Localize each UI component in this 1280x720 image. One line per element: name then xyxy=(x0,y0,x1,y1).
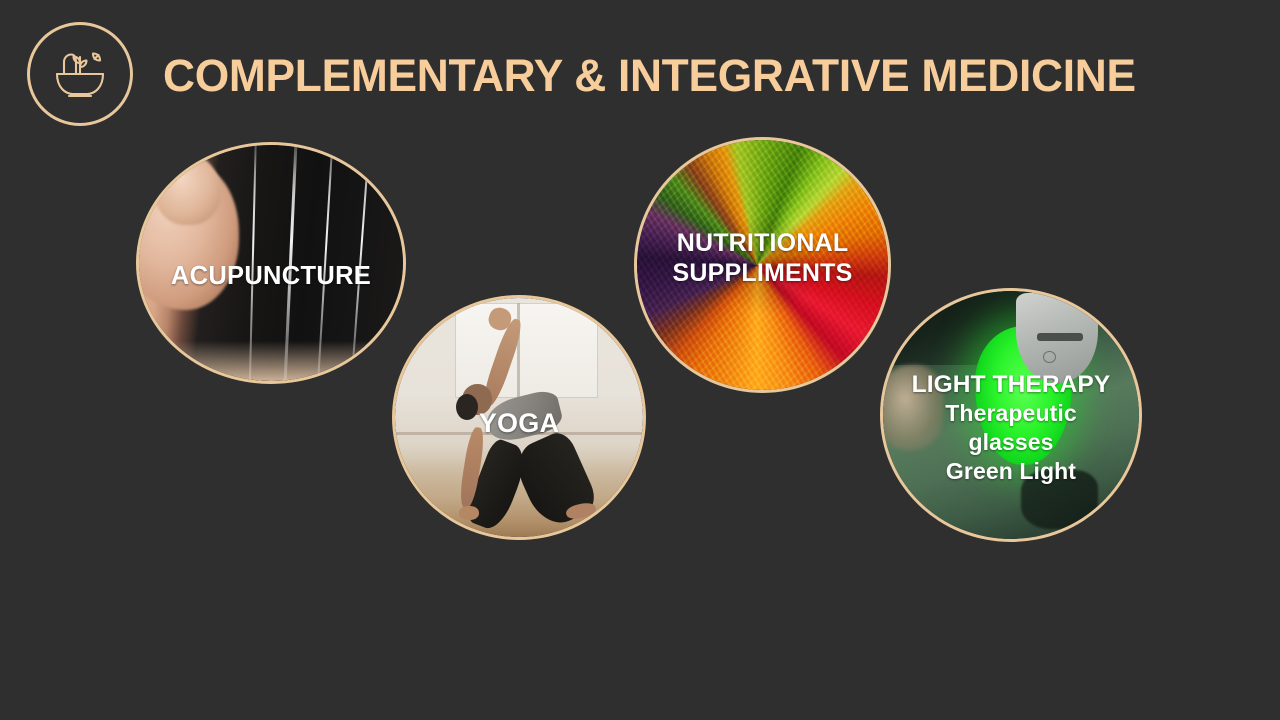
page-title: COMPLEMENTARY & INTEGRATIVE MEDICINE xyxy=(163,48,1136,104)
caption-line-1: LIGHT THERAPY xyxy=(883,370,1139,399)
caption-line-2: Therapeutic xyxy=(883,399,1139,428)
device-slot xyxy=(1037,333,1083,341)
caption-yoga: YOGA xyxy=(395,408,643,439)
caption-line-1: NUTRITIONAL xyxy=(637,228,888,258)
thumb-shape xyxy=(155,154,221,225)
topic-circle-light-therapy[interactable]: LIGHT THERAPY Therapeutic glasses Green … xyxy=(880,288,1142,542)
slide-canvas: COMPLEMENTARY & INTEGRATIVE MEDICINE ACU… xyxy=(0,0,1280,720)
caption-line-4: Green Light xyxy=(883,457,1139,486)
caption-line-2: SUPPLIMENTS xyxy=(637,258,888,288)
topic-circle-yoga[interactable]: YOGA xyxy=(392,295,646,540)
topic-circle-nutritional-suppliments[interactable]: NUTRITIONAL SUPPLIMENTS xyxy=(634,137,891,393)
yoga-figure-hand-lowered xyxy=(459,506,479,520)
logo-badge xyxy=(27,22,133,126)
caption-acupuncture: ACUPUNCTURE xyxy=(139,262,403,291)
slide-header: COMPLEMENTARY & INTEGRATIVE MEDICINE xyxy=(0,0,1280,140)
caption-line-3: glasses xyxy=(883,428,1139,457)
topic-circle-acupuncture[interactable]: ACUPUNCTURE xyxy=(136,142,406,384)
device-button-icon xyxy=(1043,351,1056,363)
caption-nutritional-suppliments: NUTRITIONAL SUPPLIMENTS xyxy=(637,228,888,288)
caption-light-therapy: LIGHT THERAPY Therapeutic glasses Green … xyxy=(883,370,1139,486)
studio-window-mullion xyxy=(517,303,520,399)
